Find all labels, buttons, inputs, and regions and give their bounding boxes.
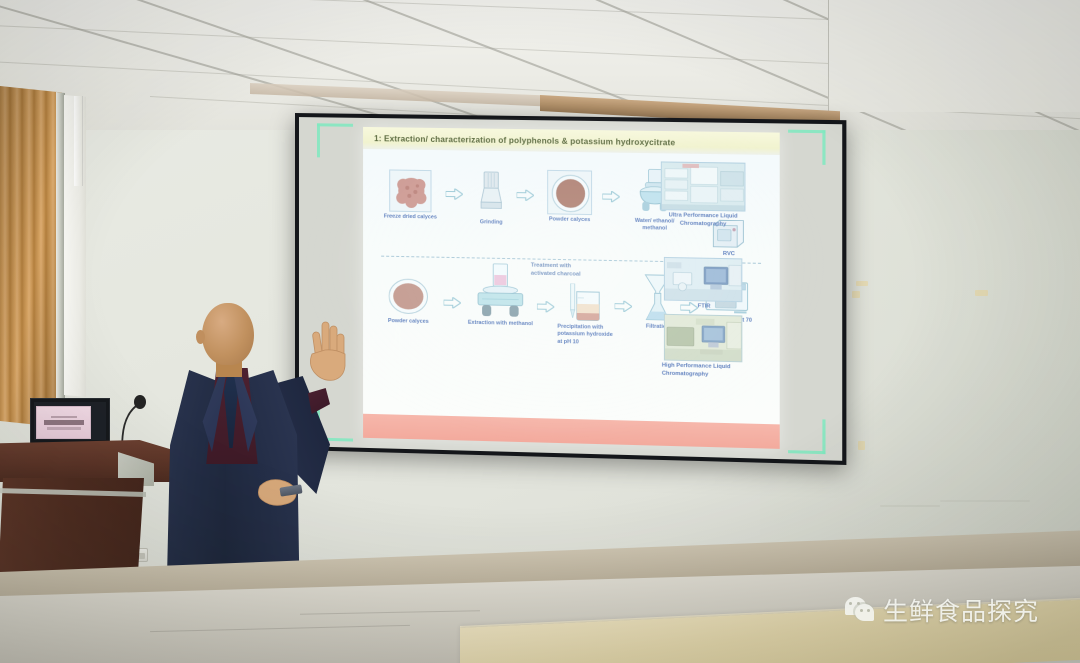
tape-mark [852, 291, 860, 298]
presentation-clicker[interactable] [279, 484, 302, 496]
flow-arrow-icon [444, 297, 461, 308]
tape-mark [858, 441, 865, 450]
equipment-hplc-group: High Performance Liquid Chromatography [664, 314, 755, 363]
lecture-hall-photo: 1: Extraction/ characterization of polyp… [0, 0, 1080, 663]
equipment-label: High Performance Liquid Chromatography [662, 362, 734, 379]
beaker-icon [573, 290, 604, 323]
annotation-activated-charcoal: Treatment with activated charcoal [531, 263, 586, 279]
diagram-node-powder-calyces-2: Powder calyces [377, 276, 439, 327]
sign-line [51, 416, 77, 419]
presentation-slide: 1: Extraction/ characterization of polyp… [363, 127, 780, 449]
ftir-photo-icon [664, 257, 742, 302]
calibration-mark [788, 450, 825, 454]
wall-scuff [940, 500, 1030, 502]
powder-dish-icon [386, 276, 430, 317]
calibration-mark [317, 123, 320, 157]
calibration-mark [822, 130, 825, 165]
calibration-mark [788, 130, 825, 134]
flow-arrow-icon [537, 301, 554, 312]
diagram-node-freeze-dried-calyces: Freeze dried calyces [379, 169, 441, 222]
tape-mark [856, 281, 868, 286]
ceiling-soffit [828, 0, 1080, 112]
presenter-ear [196, 330, 205, 344]
uplc-photo-icon [661, 161, 746, 211]
wood-paneling-shadow [0, 86, 62, 428]
projection-screen[interactable]: 1: Extraction/ characterization of polyp… [295, 113, 846, 465]
node-label: Powder calyces [388, 318, 429, 326]
flow-arrow-icon [615, 301, 632, 313]
hplc-photo-icon [664, 314, 742, 363]
equipment-label: FTIR [687, 303, 722, 311]
slide-title: 1: Extraction/ characterization of polyp… [363, 133, 675, 146]
equipment-uplc-group: Ultra Performance Liquid Chromatography [661, 161, 764, 211]
flow-arrow-icon [517, 190, 534, 201]
node-label: Grinding [480, 219, 503, 227]
equipment-ftir-group: FTIR [664, 257, 751, 302]
node-label: Precipitation with potassium hydroxide a… [557, 324, 618, 348]
podium-notice-sign [36, 406, 91, 439]
node-label: Powder calyces [549, 216, 590, 224]
wall-scuff [880, 505, 940, 507]
equipment-label: Ultra Performance Liquid Chromatography [658, 212, 749, 229]
flow-arrow-icon [602, 191, 619, 202]
diagram-node-extraction: Extraction with methanol [464, 261, 537, 328]
diagram-node-precipitation: Precipitation with potassium hydroxide a… [555, 289, 620, 347]
node-label: Extraction with methanol [468, 320, 533, 329]
wall-conduit [74, 96, 83, 186]
grinder-icon [478, 169, 504, 216]
dried-calyces-icon [389, 169, 431, 212]
diagram-node-powder-calyces: Powder calyces [539, 170, 600, 225]
screen-surface: 1: Extraction/ characterization of polyp… [299, 117, 842, 461]
diagram-node-grinding: Grinding [468, 169, 515, 228]
stirrer-icon [470, 261, 531, 319]
node-label: Freeze dried calyces [384, 214, 437, 222]
sign-line [47, 427, 81, 430]
flow-arrow-icon [446, 188, 463, 199]
powder-dish-icon [547, 170, 592, 215]
presenter-head [202, 303, 254, 365]
calibration-mark [822, 419, 825, 454]
presenter-raised-hand [306, 320, 350, 398]
tape-mark [975, 290, 988, 296]
sign-line [44, 420, 84, 425]
calibration-mark [317, 123, 353, 126]
